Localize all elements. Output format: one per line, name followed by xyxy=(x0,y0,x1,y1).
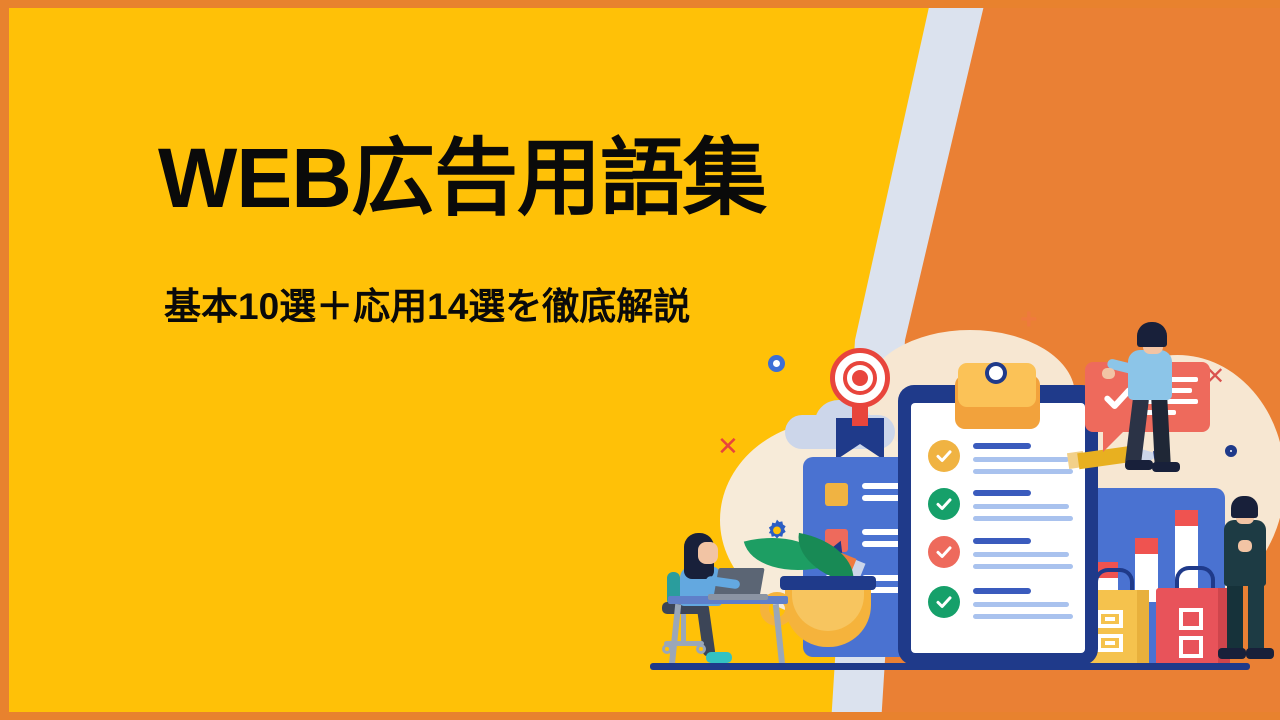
checklist-line-3b xyxy=(973,564,1073,569)
man-suit-shoe-left xyxy=(1218,648,1246,659)
cross-mark-icon-a: ✕ xyxy=(717,435,739,457)
checklist-line-1b xyxy=(973,469,1073,474)
checklist-line-3a xyxy=(973,552,1069,557)
chart-bar-3-cap xyxy=(1175,510,1198,526)
checklist-check-2 xyxy=(928,488,960,520)
checklist-check-1 xyxy=(928,440,960,472)
man-suit-leg-left xyxy=(1227,582,1243,654)
ring-dot-icon-c xyxy=(1225,445,1237,457)
chair-post xyxy=(681,613,686,643)
man-suit-hair xyxy=(1231,496,1258,518)
bag-mark-r2 xyxy=(1179,636,1203,658)
bag-mark-r1 xyxy=(1179,608,1203,630)
woman-face xyxy=(698,542,718,564)
ground-line xyxy=(650,663,1250,670)
bag-dash-y1 xyxy=(1105,617,1115,621)
banner-canvas: ✕ ✕ + + xyxy=(0,0,1280,720)
checklist-title-3 xyxy=(973,538,1031,544)
speech-bubble-tail xyxy=(1103,430,1125,452)
chair-wheel-right xyxy=(696,644,706,654)
checklist-check-3 xyxy=(928,536,960,568)
page-title: WEB広告用語集 xyxy=(158,136,766,220)
man-suit-jacket xyxy=(1224,520,1266,586)
illustration: ✕ ✕ + + xyxy=(640,300,1280,720)
checklist-line-4a xyxy=(973,602,1069,607)
checklist-title-1 xyxy=(973,443,1031,449)
bag-dash-y2 xyxy=(1105,641,1115,645)
man-presenting-hand xyxy=(1102,368,1115,379)
award-medal-core xyxy=(852,370,868,386)
woman-shoe xyxy=(706,652,732,663)
clipboard-knob-inner xyxy=(989,366,1003,380)
checklist-title-4 xyxy=(973,588,1031,594)
laptop-base xyxy=(708,594,768,600)
man-presenting-shoe-right xyxy=(1152,462,1180,472)
chart-bar-2-cap xyxy=(1135,538,1158,554)
checklist-check-4 xyxy=(928,586,960,618)
checklist-line-4b xyxy=(973,614,1073,619)
headline-block: WEB広告用語集 基本10選＋応用14選を徹底解説 xyxy=(158,136,766,330)
man-presenting-shoe-left xyxy=(1125,460,1153,470)
checklist-title-2 xyxy=(973,490,1031,496)
checklist-line-2a xyxy=(973,504,1069,509)
man-presenting-hair xyxy=(1137,322,1167,347)
shopping-bag-yellow-side xyxy=(1137,590,1149,666)
page-subtitle: 基本10選＋応用14選を徹底解説 xyxy=(164,276,766,330)
ring-dot-icon-a xyxy=(768,355,785,372)
man-suit-shoe-right xyxy=(1246,648,1274,659)
plus-mark-icon-a: + xyxy=(1020,310,1038,330)
man-suit-hand xyxy=(1238,540,1252,552)
list-swatch-1 xyxy=(825,483,848,506)
cup-rim xyxy=(780,576,876,590)
man-suit-leg-right xyxy=(1248,582,1264,654)
man-presenting-arm-right xyxy=(1156,358,1168,398)
checklist-line-1a xyxy=(973,457,1069,462)
checklist-line-2b xyxy=(973,516,1073,521)
